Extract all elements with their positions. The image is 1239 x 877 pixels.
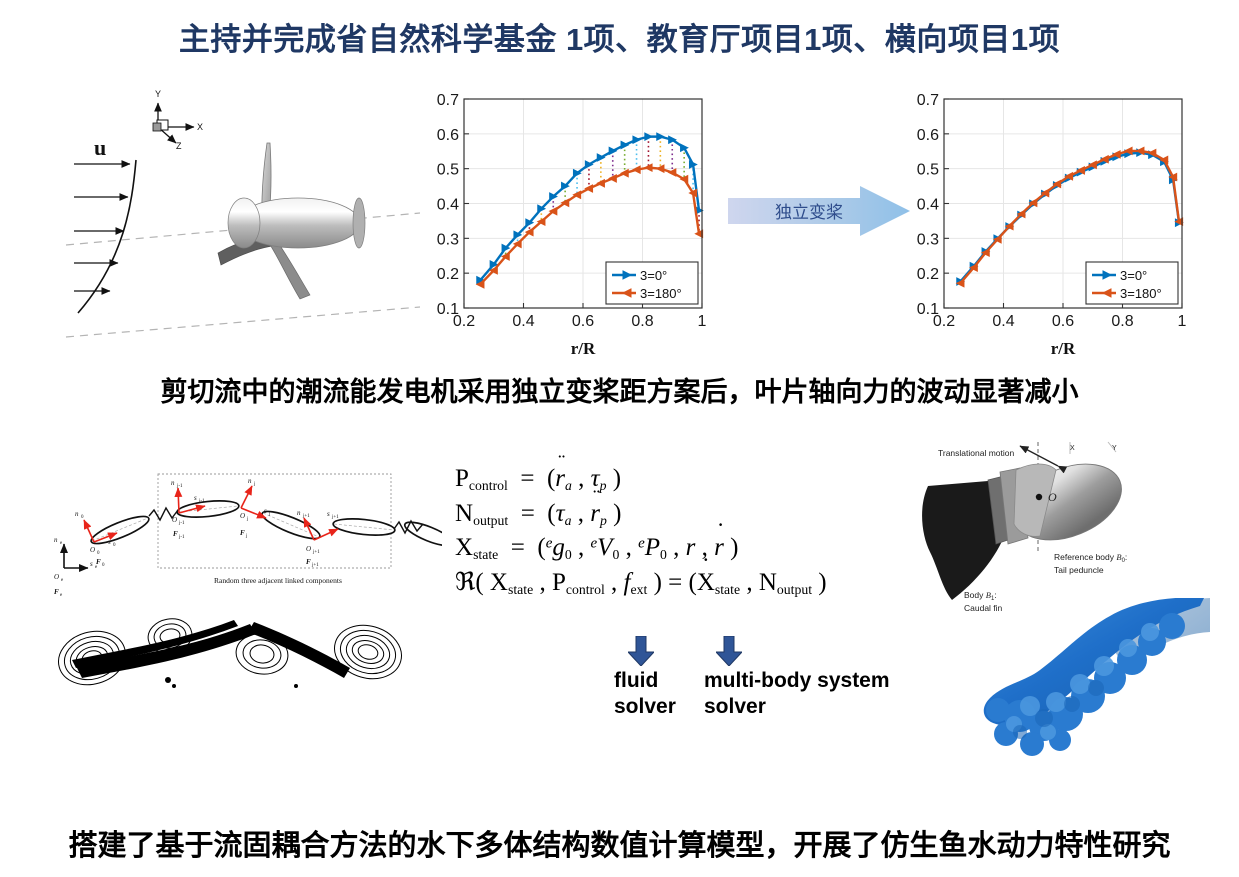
svg-text:0.4: 0.4	[917, 197, 939, 214]
svg-text:1: 1	[698, 313, 707, 330]
vortex-isosurface-svg	[960, 598, 1210, 798]
caption-middle: 剪切流中的潮流能发电机采用独立变桨距方案后，叶片轴向力的波动显著减小	[0, 370, 1239, 409]
svg-text:s: s	[90, 560, 93, 568]
equation-coupling: ℜ( Xstate , Pcontrol , fext ) = (Xstate …	[455, 566, 875, 601]
svg-text:0.1: 0.1	[437, 301, 459, 318]
svg-text:3=180°: 3=180°	[1120, 286, 1162, 301]
svg-text:O: O	[172, 516, 177, 524]
svg-text:0.8: 0.8	[1111, 313, 1133, 330]
svg-text:j+1: j+1	[311, 563, 319, 568]
svg-text:0.5: 0.5	[437, 162, 459, 179]
svg-text:F: F	[306, 558, 311, 566]
multibody-solver-arrow	[716, 636, 742, 671]
flow-velocity-label: u	[94, 135, 106, 160]
svg-text:Y: Y	[1112, 445, 1117, 452]
vortex-isosurface-render	[960, 598, 1210, 798]
multibody-solver-line2: solver	[704, 694, 904, 720]
svg-text:0.6: 0.6	[1052, 313, 1074, 330]
svg-text:r/R: r/R	[1051, 339, 1076, 358]
svg-text:Y: Y	[155, 89, 161, 99]
linked-components-caption: Random three adjacent linked components	[214, 576, 342, 585]
svg-text:3=180°: 3=180°	[640, 286, 682, 301]
translational-motion-label: Translational motion	[938, 448, 1014, 458]
svg-text:3=0°: 3=0°	[640, 268, 667, 283]
svg-text:j: j	[246, 517, 248, 522]
fluid-solver-label: fluid solver	[614, 668, 700, 721]
multibody-solver-line1: multi-body system	[704, 668, 904, 694]
linked-components-svg: n0 s0 O0 F0 nj-1 sj-1 Oj-1 Fj-1 nj sj Oj…	[42, 452, 442, 612]
svg-text:0.5: 0.5	[917, 162, 939, 179]
svg-text:0.4: 0.4	[512, 313, 534, 330]
svg-text:s: s	[327, 510, 330, 518]
chart-left: 0.20.40.60.810.10.20.30.40.50.60.7r/R3=0…	[420, 85, 710, 360]
svg-text:j: j	[245, 534, 247, 539]
svg-text:0.3: 0.3	[437, 231, 459, 248]
svg-text:j+1: j+1	[302, 514, 310, 519]
svg-text:0.8: 0.8	[631, 313, 653, 330]
svg-text:j-1: j-1	[178, 535, 185, 540]
svg-text:j-1: j-1	[178, 521, 185, 526]
arrow-down-icon	[628, 636, 654, 666]
chart-left-svg: 0.20.40.60.810.10.20.30.40.50.60.7r/R3=0…	[420, 85, 710, 360]
svg-text:s: s	[108, 538, 111, 546]
svg-text:j-1: j-1	[198, 499, 205, 504]
svg-text:Tail peduncle: Tail peduncle	[1054, 565, 1104, 575]
coordinate-axes-icon: Y X Z	[153, 89, 203, 151]
fluid-solver-line1: fluid	[614, 668, 700, 694]
svg-text:n: n	[297, 509, 301, 517]
svg-text:j: j	[268, 512, 270, 517]
svg-text:0: 0	[81, 515, 84, 520]
svg-text:0.7: 0.7	[917, 92, 939, 109]
svg-text:O: O	[54, 573, 59, 581]
fluid-solver-line2: solver	[614, 694, 700, 720]
equation-p-control: Pcontrol = (ra , τp )	[455, 462, 875, 497]
linked-components-diagram: n0 s0 O0 F0 nj-1 sj-1 Oj-1 Fj-1 nj sj Oj…	[42, 452, 442, 612]
svg-text:O: O	[1048, 490, 1057, 504]
svg-text:O: O	[90, 546, 95, 554]
multibody-solver-label: multi-body system solver	[704, 668, 904, 721]
svg-text:0.6: 0.6	[437, 127, 459, 144]
svg-text:1: 1	[1178, 313, 1187, 330]
svg-text:e: e	[61, 578, 64, 583]
svg-text:0.3: 0.3	[917, 231, 939, 248]
svg-text:j+1: j+1	[312, 550, 320, 555]
svg-text:X: X	[197, 122, 203, 132]
vorticity-svg	[50, 602, 450, 722]
chart-right: 0.20.40.60.810.10.20.30.40.50.60.7r/R3=0…	[900, 85, 1190, 360]
svg-text:s: s	[264, 507, 267, 515]
svg-text:O: O	[240, 512, 245, 520]
svg-text:F: F	[240, 529, 245, 537]
transition-arrow: 独立变桨	[728, 186, 910, 236]
svg-text:n: n	[171, 479, 175, 487]
svg-text:3=0°: 3=0°	[1120, 268, 1147, 283]
equation-n-output: Noutput = (τa , rp )	[455, 497, 875, 532]
fluid-solver-arrow	[628, 636, 654, 671]
svg-text:F: F	[54, 588, 59, 596]
svg-text:0.4: 0.4	[437, 197, 459, 214]
svg-text:n: n	[75, 510, 79, 518]
caption-bottom: 搭建了基于流固耦合方法的水下多体结构数值计算模型，开展了仿生鱼水动力特性研究	[0, 822, 1239, 864]
svg-text:Z: Z	[176, 141, 182, 151]
turbine-svg: Y X Z u	[58, 85, 420, 363]
svg-text:n: n	[248, 477, 252, 485]
page-title: 主持并完成省自然科学基金 1项、教育厅项目1项、横向项目1项	[0, 14, 1239, 59]
svg-text:r/R: r/R	[571, 339, 596, 358]
svg-text:j+1: j+1	[331, 515, 339, 520]
slide-canvas: 主持并完成省自然科学基金 1项、教育厅项目1项、横向项目1项	[0, 0, 1239, 877]
svg-text:Reference body B0:: Reference body B0:	[1054, 552, 1127, 564]
svg-text:F: F	[173, 530, 178, 538]
vorticity-contour-plot	[50, 602, 450, 722]
svg-text:e: e	[60, 541, 63, 546]
equation-block: Pcontrol = (ra , τp ) Noutput = (τa , rp…	[455, 462, 875, 600]
chart-right-svg: 0.20.40.60.810.10.20.30.40.50.60.7r/R3=0…	[900, 85, 1190, 360]
turbine-rotor-icon	[218, 143, 365, 299]
svg-text:e: e	[60, 593, 63, 598]
svg-text:X: X	[1070, 445, 1075, 452]
svg-text:0.6: 0.6	[572, 313, 594, 330]
svg-text:s: s	[194, 494, 197, 502]
svg-text:0.1: 0.1	[917, 301, 939, 318]
svg-text:O: O	[306, 545, 311, 553]
svg-text:0.6: 0.6	[917, 127, 939, 144]
svg-text:0: 0	[97, 551, 100, 556]
svg-text:j: j	[253, 482, 255, 487]
svg-text:j-1: j-1	[176, 484, 183, 489]
svg-text:n: n	[54, 536, 58, 544]
arrow-right-icon	[728, 186, 910, 236]
svg-text:0.2: 0.2	[917, 266, 939, 283]
svg-text:0: 0	[102, 563, 105, 568]
svg-text:0.7: 0.7	[437, 92, 459, 109]
svg-text:0: 0	[113, 543, 116, 548]
arrow-down-icon	[716, 636, 742, 666]
svg-text:0.2: 0.2	[437, 266, 459, 283]
equation-x-state: Xstate = (eg0 , eV0 , eP0 , r , r )	[455, 531, 875, 566]
svg-text:0.4: 0.4	[992, 313, 1014, 330]
shear-flow-turbine-diagram: Y X Z u	[58, 85, 420, 363]
